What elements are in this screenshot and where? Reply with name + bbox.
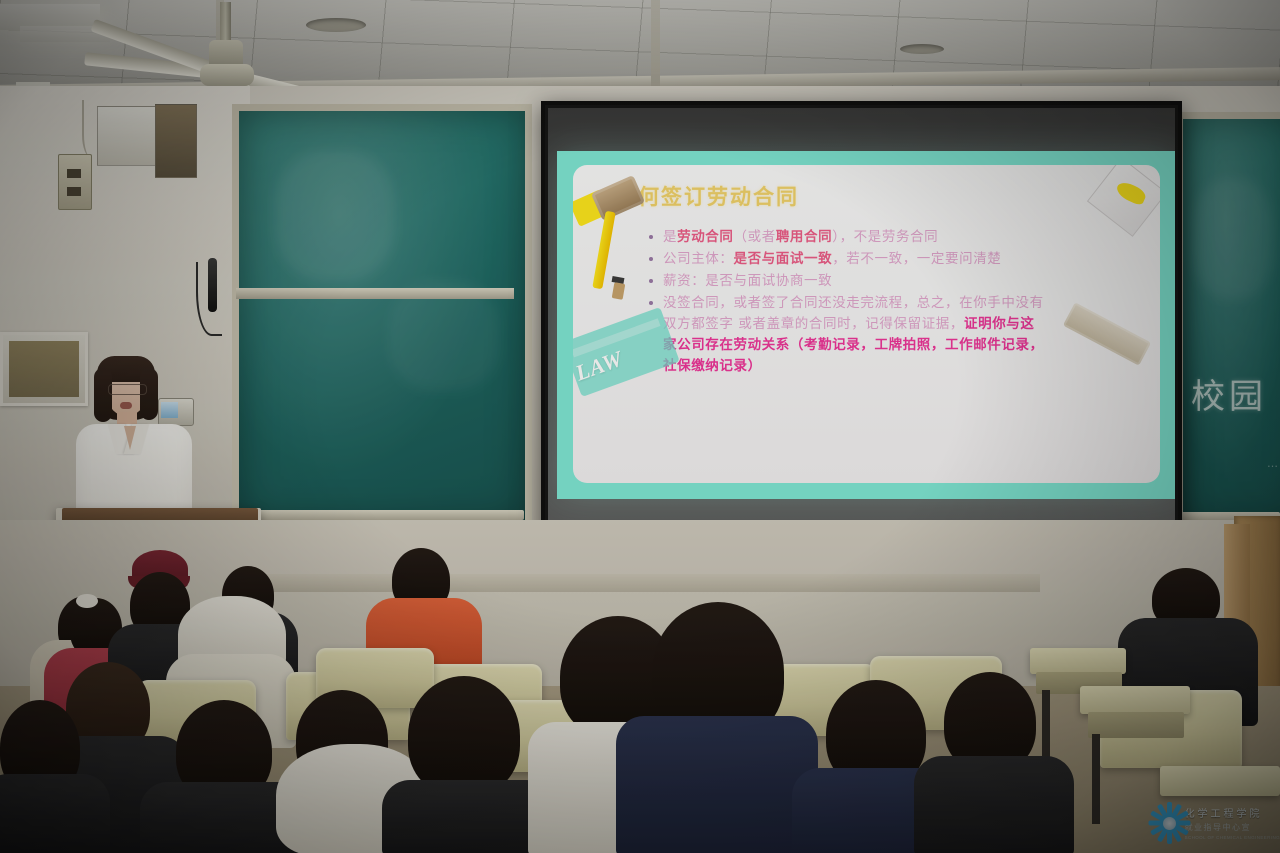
bullet-seg: ，若不一致，一定要问清楚 [832,251,1001,267]
slide-bullet-list: 是劳动合同（或者聘用合同），不是劳务合同 公司主体：是否与面试一致，若不一致，一… [647,227,1047,378]
wall-mounted-speaker [155,104,197,178]
gavel-tip [612,282,626,300]
ruler-graphic [1063,302,1151,365]
projection-screen: 如何签订劳动合同 是劳动合同（或者聘用合同），不是劳务合同 公司主体：是否与面试… [541,101,1182,556]
watermark-text-block: 化学工程学院 就业指导中心宣 SCHOOL OF CHEMICAL ENGINE… [1185,805,1280,840]
presenter-mouth [120,402,132,409]
gavel-graphic: LAW [573,165,693,395]
logo-core [1163,817,1176,830]
switch-toggle[interactable] [67,169,81,178]
microphone-icon [208,258,217,312]
fold-down-desk[interactable] [1030,648,1126,674]
watermark-line-2: 就业指导中心宣 [1185,822,1280,833]
hair-scrunchie [76,594,98,608]
chalk-smudge [275,151,395,281]
notice-content [9,341,79,397]
fan-hub [200,64,254,86]
presenter-hair-left [94,368,112,422]
stage-step [240,574,1040,592]
bullet-seg: （或者 [734,229,776,245]
blackboard-right-text: 校园 [1191,369,1267,418]
gavel-head [591,175,645,221]
ceiling-beam-vertical [651,0,660,96]
switch-toggle[interactable] [67,187,81,196]
wall-switch-box [58,154,92,210]
audience-head [408,676,520,796]
slide-bullet-item: 没签合同，或者签了合同还没走完流程，总之，在你手中没有双方都签字 或者盖章的合同… [647,293,1047,377]
presentation-slide: 如何签订劳动合同 是劳动合同（或者聘用合同），不是劳务合同 公司主体：是否与面试… [557,151,1175,499]
board-divider [236,288,514,299]
bullet-seg-strong: 是否与面试一致 [734,251,833,267]
watermark: 化学工程学院 就业指导中心宣 SCHOOL OF CHEMICAL ENGINE… [1146,792,1280,853]
fold-down-desk[interactable] [1080,686,1190,714]
wall-mounted-box [97,106,157,166]
paper-graphic [1087,165,1160,237]
slide-bullet-item: 公司主体：是否与面试一致，若不一致，一定要问清楚 [647,249,1047,270]
presenter [74,356,194,526]
bullet-seg-strong: 聘用合同 [776,229,832,245]
hanging-wire [82,100,106,158]
slide-content-card: 如何签订劳动合同 是劳动合同（或者聘用合同），不是劳务合同 公司主体：是否与面试… [573,165,1160,483]
institution-logo-icon [1146,800,1179,846]
desk-underside [1088,712,1184,738]
watermark-line-1: 化学工程学院 [1185,805,1280,820]
blackboard-left [232,104,532,528]
audience-body [0,774,110,853]
chalk-tray-left [228,510,524,520]
bullet-seg: ），不是劳务合同 [832,229,938,245]
slide-bullet-item: 是劳动合同（或者聘用合同），不是劳务合同 [647,227,1047,248]
audience-body [616,716,818,853]
audience-body [914,756,1074,853]
blackboard-right-subtext: … [1267,457,1278,470]
screen-surface: 如何签订劳动合同 是劳动合同（或者聘用合同），不是劳务合同 公司主体：是否与面试… [548,108,1175,549]
glasses-icon [108,384,147,395]
chalk-smudge [1193,179,1273,299]
seat-leg [1092,734,1100,824]
fan-rod [220,2,231,44]
lecture-hall-scene: 校园 … 如何签订劳动合同 是劳动合同（或者聘用合同），不是劳务合同 公司主体：… [0,0,1280,853]
blackboard-right: 校园 … [1176,112,1280,530]
slide-bullet-item: 薪资：是否与面试协商一致 [647,271,1047,292]
watermark-line-3: SCHOOL OF CHEMICAL ENGINEERING [1185,835,1280,840]
